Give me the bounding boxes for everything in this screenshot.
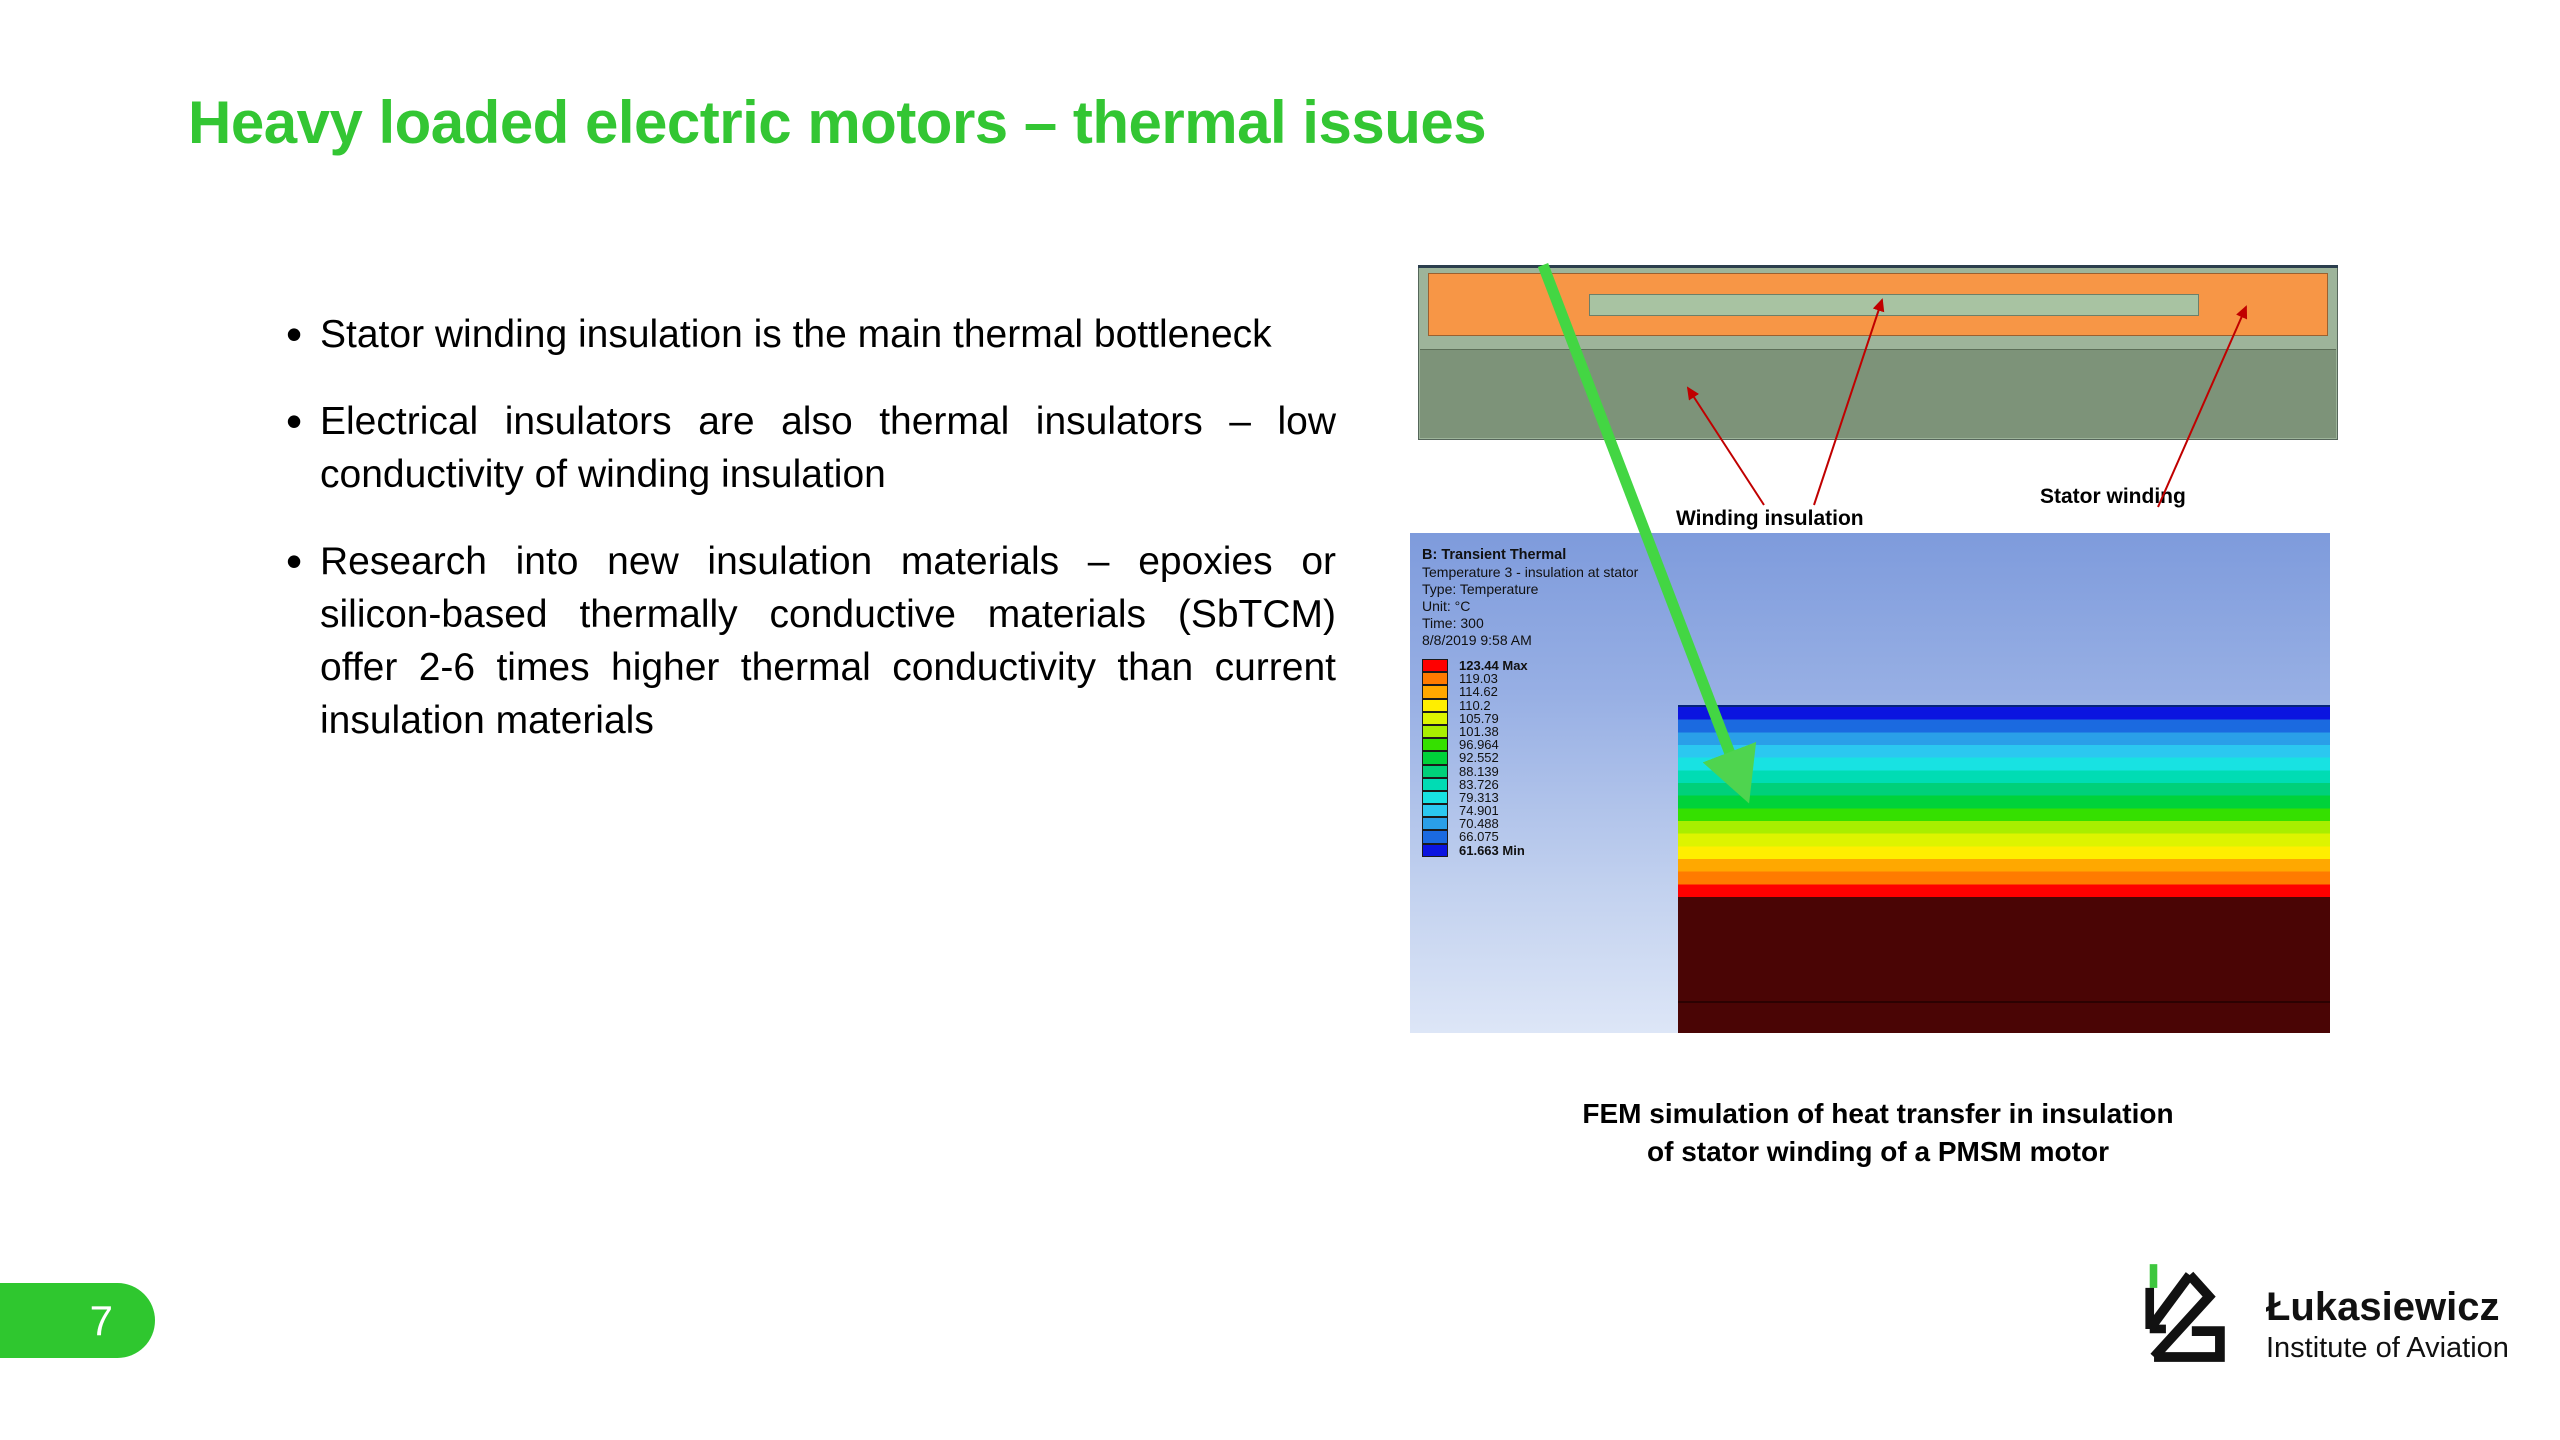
page-title: Heavy loaded electric motors – thermal i…: [188, 88, 1486, 157]
fem-header-block: B: Transient Thermal Temperature 3 - ins…: [1422, 547, 1638, 649]
legend-value-label: 66.075: [1459, 830, 1499, 843]
legend-value-label: 92.552: [1459, 751, 1499, 764]
figure-caption: FEM simulation of heat transfer in insul…: [1428, 1095, 2328, 1171]
legend-row: 105.79: [1422, 712, 1528, 725]
legend-value-label: 88.139: [1459, 765, 1499, 778]
legend-value-label: 110.2: [1459, 699, 1491, 712]
legend-color-swatch: [1422, 817, 1448, 830]
stator-core-region: [1420, 349, 2336, 438]
annotation-winding-insulation: Winding insulation: [1676, 507, 1864, 531]
caption-line-2: of stator winding of a PMSM motor: [1428, 1133, 2328, 1171]
bullet-text: Electrical insulators are also thermal i…: [320, 395, 1336, 501]
logo-subtitle: Institute of Aviation: [2266, 1330, 2509, 1366]
legend-color-swatch: [1422, 830, 1448, 843]
fem-header-line: 8/8/2019 9:58 AM: [1422, 632, 1638, 649]
legend-color-swatch: [1422, 685, 1448, 698]
bullet-marker-icon: •: [286, 535, 320, 587]
legend-color-swatch: [1422, 791, 1448, 804]
legend-color-swatch: [1422, 738, 1448, 751]
list-item: • Research into new insulation materials…: [286, 535, 1336, 747]
fem-figure: Winding insulation Stator winding B: Tra…: [1410, 255, 2340, 1135]
contour-gradient-band: [1678, 707, 2330, 897]
contour-divider-line: [1678, 1001, 2330, 1003]
logo-text-block: Łukasiewicz Institute of Aviation: [2266, 1284, 2509, 1366]
legend-row: 110.2: [1422, 699, 1528, 712]
legend-color-swatch: [1422, 725, 1448, 738]
bullet-text: Stator winding insulation is the main th…: [320, 308, 1336, 361]
winding-insulation-region: [1589, 294, 2199, 316]
legend-row: 61.663 Min: [1422, 844, 1528, 857]
legend-row: 88.139: [1422, 765, 1528, 778]
legend-color-swatch: [1422, 751, 1448, 764]
legend-value-label: 105.79: [1459, 712, 1499, 725]
legend-color-swatch: [1422, 778, 1448, 791]
stator-winding-region: [1428, 273, 2328, 336]
temperature-colorbar-legend: 123.44 Max119.03114.62110.2105.79101.389…: [1422, 659, 1528, 857]
page-number-text: 7: [90, 1300, 113, 1342]
bullet-marker-icon: •: [286, 395, 320, 447]
list-item: • Electrical insulators are also thermal…: [286, 395, 1336, 501]
bullet-text: Research into new insulation materials –…: [320, 535, 1336, 747]
legend-row: 66.075: [1422, 830, 1528, 843]
logo-name: Łukasiewicz: [2266, 1284, 2509, 1330]
legend-row: 114.62: [1422, 685, 1528, 698]
fem-result-panel: B: Transient Thermal Temperature 3 - ins…: [1410, 533, 2330, 1033]
fem-header-line: Unit: °C: [1422, 598, 1638, 615]
legend-color-swatch: [1422, 844, 1448, 857]
legend-color-swatch: [1422, 672, 1448, 685]
legend-color-swatch: [1422, 699, 1448, 712]
cross-section-top-edge: [1418, 265, 2338, 268]
bullet-list: • Stator winding insulation is the main …: [286, 308, 1336, 781]
brand-logo: Łukasiewicz Institute of Aviation: [2140, 1262, 2540, 1402]
legend-value-label: 61.663 Min: [1459, 844, 1525, 857]
motor-cross-section-diagram: [1418, 265, 2338, 440]
fem-header-line: Time: 300: [1422, 615, 1638, 632]
page-number-badge: 7: [0, 1283, 155, 1358]
fem-header-line: B: Transient Thermal: [1422, 547, 1638, 564]
legend-color-swatch: [1422, 804, 1448, 817]
legend-row: 92.552: [1422, 751, 1528, 764]
fem-header-line: Type: Temperature: [1422, 581, 1638, 598]
fem-header-line: Temperature 3 - insulation at stator: [1422, 564, 1638, 581]
caption-line-1: FEM simulation of heat transfer in insul…: [1428, 1095, 2328, 1133]
legend-color-swatch: [1422, 765, 1448, 778]
temperature-contour-plot: [1678, 705, 2330, 1033]
legend-row: 83.726: [1422, 778, 1528, 791]
legend-color-swatch: [1422, 659, 1448, 672]
annotation-stator-winding: Stator winding: [2040, 485, 2186, 509]
bullet-marker-icon: •: [286, 308, 320, 360]
contour-saturated-region: [1678, 897, 2330, 1033]
legend-color-swatch: [1422, 712, 1448, 725]
slide-canvas: Heavy loaded electric motors – thermal i…: [0, 0, 2560, 1440]
legend-value-label: 114.62: [1459, 685, 1498, 698]
lukasiewicz-logo-icon: [2140, 1262, 2248, 1370]
list-item: • Stator winding insulation is the main …: [286, 308, 1336, 361]
legend-value-label: 83.726: [1459, 778, 1499, 791]
